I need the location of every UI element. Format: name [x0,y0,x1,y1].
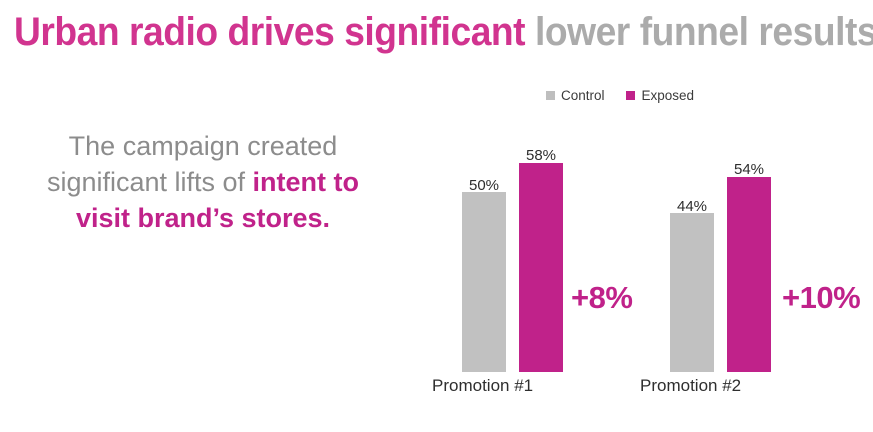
bar-exposed-promotion-1[interactable] [519,163,563,372]
bar-control-promotion-1[interactable] [462,192,506,372]
bar-value-exposed-promotion-1: 58% [511,147,571,164]
axis-label-promotion-1: Promotion #1 [432,376,632,396]
bar-group-promotion-1: 50% 58% Promotion #1 +8% [422,120,632,420]
page-title-muted: lower funnel results [535,10,873,54]
lift-annotation-promotion-1: +8% [571,280,632,316]
callout-paragraph: The campaign created significant lifts o… [38,128,368,236]
bar-group-promotion-2: 44% 54% Promotion #2 +10% [630,120,840,420]
bar-value-control-promotion-2: 44% [662,198,722,215]
page-title-accent: Urban radio drives significant [14,10,525,54]
bar-chart: 50% 58% Promotion #1 +8% 44% 54% Promoti… [400,120,870,420]
axis-label-promotion-2: Promotion #2 [640,376,840,396]
bar-value-control-promotion-1: 50% [454,177,514,194]
lift-annotation-promotion-2: +10% [782,280,860,316]
legend-swatch-exposed-icon [626,91,635,100]
legend-item-control[interactable]: Control [546,88,605,103]
chart-legend: Control Exposed [400,88,840,103]
page-title: Urban radio drives significant lower fun… [14,8,814,56]
plot-area-promotion-1: 50% 58% [422,120,568,372]
legend-swatch-control-icon [546,91,555,100]
plot-area-promotion-2: 44% 54% [630,120,776,372]
legend-label-control: Control [561,88,605,103]
legend-label-exposed: Exposed [641,88,694,103]
bar-control-promotion-2[interactable] [670,213,714,372]
legend-item-exposed[interactable]: Exposed [626,88,694,103]
bar-value-exposed-promotion-2: 54% [719,161,779,178]
bar-exposed-promotion-2[interactable] [727,177,771,372]
